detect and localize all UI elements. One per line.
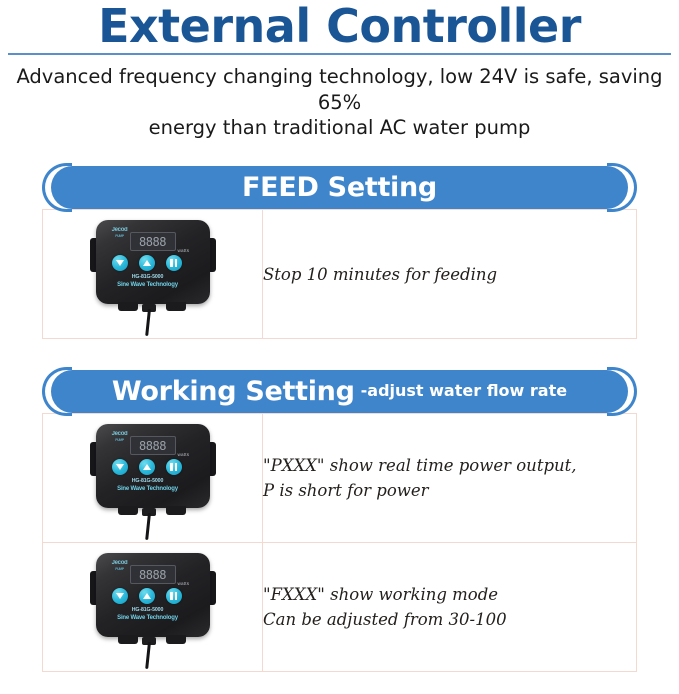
device-foot-right	[166, 302, 186, 311]
up-button[interactable]	[139, 588, 155, 604]
description-cell: Stop 10 minutes for feeding	[263, 210, 637, 339]
working-banner: Working Setting -adjust water flow rate	[42, 370, 637, 413]
device-cable	[145, 513, 151, 540]
arrow-up-icon	[143, 260, 151, 266]
device-foot-right	[166, 635, 186, 644]
device-cable	[145, 309, 151, 336]
device-model-label: HG-81G-5000	[115, 478, 181, 484]
device-button-row	[112, 255, 182, 271]
device-foot-left	[118, 302, 138, 311]
feed-banner-title: FEED Setting	[242, 174, 437, 201]
pause-icon	[170, 259, 177, 267]
device-tagline-label: Sine Wave Technology	[109, 615, 187, 621]
working-banner-title: Working Setting	[112, 378, 355, 405]
controller-device: Jecod PUMP 8888 watts	[78, 212, 228, 336]
description-cell: "PXXX" show real time power output, P is…	[263, 414, 637, 543]
page-header: External Controller Advanced frequency c…	[0, 0, 679, 140]
up-button[interactable]	[139, 459, 155, 475]
device-faceplate: Jecod PUMP 8888 watts	[103, 226, 203, 298]
description-line: Stop 10 minutes for feeding	[263, 262, 636, 288]
brand-logo-icon: Jecod PUMP	[107, 431, 133, 442]
arrow-down-icon	[116, 464, 124, 470]
device-image-cell: Jecod PUMP 8888 watts	[43, 414, 263, 543]
page-subtitle: Advanced frequency changing technology, …	[14, 64, 665, 140]
up-button[interactable]	[139, 255, 155, 271]
device-model-label: HG-81G-5000	[115, 274, 181, 280]
description-cell: "FXXX" show working mode Can be adjusted…	[263, 543, 637, 672]
arrow-up-icon	[143, 464, 151, 470]
description-line: "PXXX" show real time power output,	[263, 453, 636, 479]
table-row: Jecod PUMP 8888 watts	[43, 543, 637, 672]
page-title: External Controller	[0, 2, 679, 50]
down-button[interactable]	[112, 459, 128, 475]
down-button[interactable]	[112, 255, 128, 271]
device-faceplate: Jecod PUMP 8888 watts	[103, 430, 203, 502]
section-working: Working Setting -adjust water flow rate	[42, 370, 637, 672]
device-tagline-label: Sine Wave Technology	[109, 282, 187, 288]
pause-button[interactable]	[166, 459, 182, 475]
section-feed: FEED Setting Jecod	[42, 166, 637, 339]
device-cable	[145, 642, 151, 669]
device-image-cell: Jecod PUMP 8888 watts	[43, 210, 263, 339]
led-display-value: 8888	[139, 440, 166, 452]
description-line: P is short for power	[263, 478, 636, 504]
working-banner-pill: Working Setting -adjust water flow rate	[51, 370, 628, 413]
device-button-row	[112, 588, 182, 604]
arrow-up-icon	[143, 593, 151, 599]
subtitle-line-2: energy than traditional AC water pump	[149, 116, 531, 139]
brand-logo-icon: Jecod PUMP	[107, 560, 133, 571]
led-display-value: 8888	[139, 236, 166, 248]
pause-button[interactable]	[166, 255, 182, 271]
down-button[interactable]	[112, 588, 128, 604]
display-units-label: watts	[178, 581, 190, 586]
device-button-row	[112, 459, 182, 475]
arrow-down-icon	[116, 593, 124, 599]
brand-logo-sub: PUMP	[107, 233, 133, 239]
subtitle-line-1: Advanced frequency changing technology, …	[16, 65, 662, 113]
display-units-label: watts	[178, 248, 190, 253]
led-display-value: 8888	[139, 569, 166, 581]
led-display: 8888	[130, 232, 176, 251]
brand-logo-sub: PUMP	[107, 437, 133, 443]
title-divider	[8, 53, 671, 55]
pause-button[interactable]	[166, 588, 182, 604]
feed-banner-pill: FEED Setting	[51, 166, 628, 209]
brand-logo-sub: PUMP	[107, 566, 133, 572]
description-line: "FXXX" show working mode	[263, 582, 636, 608]
device-image-cell: Jecod PUMP 8888 watts	[43, 543, 263, 672]
working-table: Jecod PUMP 8888 watts	[42, 413, 637, 672]
led-display: 8888	[130, 565, 176, 584]
device-foot-left	[118, 635, 138, 644]
pause-icon	[170, 592, 177, 600]
device-faceplate: Jecod PUMP 8888 watts	[103, 559, 203, 631]
table-row: Jecod PUMP 8888 watts	[43, 414, 637, 543]
controller-device: Jecod PUMP 8888 watts	[78, 416, 228, 540]
feed-banner: FEED Setting	[42, 166, 637, 209]
brand-logo-icon: Jecod PUMP	[107, 227, 133, 238]
working-banner-subtitle: -adjust water flow rate	[361, 383, 567, 400]
pause-icon	[170, 463, 177, 471]
arrow-down-icon	[116, 260, 124, 266]
device-foot-left	[118, 506, 138, 515]
display-units-label: watts	[178, 452, 190, 457]
feed-table: Jecod PUMP 8888 watts	[42, 209, 637, 339]
device-model-label: HG-81G-5000	[115, 607, 181, 613]
device-foot-right	[166, 506, 186, 515]
table-row: Jecod PUMP 8888 watts	[43, 210, 637, 339]
controller-device: Jecod PUMP 8888 watts	[78, 545, 228, 669]
device-tagline-label: Sine Wave Technology	[109, 486, 187, 492]
description-line: Can be adjusted from 30-100	[263, 607, 636, 633]
led-display: 8888	[130, 436, 176, 455]
